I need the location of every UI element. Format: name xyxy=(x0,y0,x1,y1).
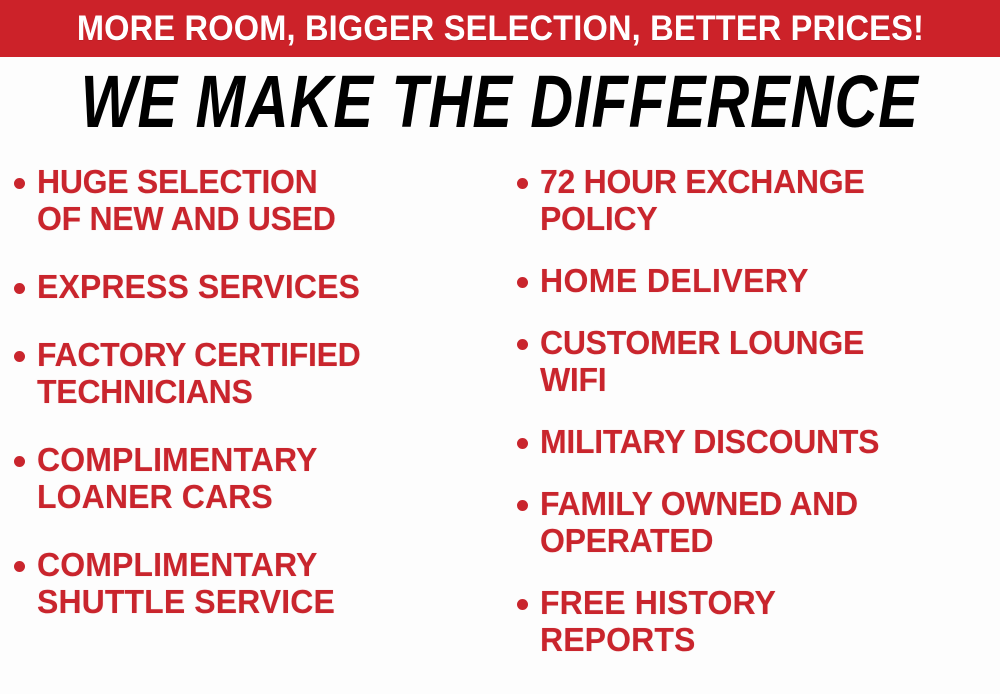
bullet-dot-icon xyxy=(517,500,528,511)
banner-headline-text: MORE ROOM, BIGGER SELECTION, BETTER PRIC… xyxy=(76,11,923,46)
benefit-complimentary-shuttle-service: COMPLIMENTARY SHUTTLE SERVICE xyxy=(37,547,335,621)
top-banner: MORE ROOM, BIGGER SELECTION, BETTER PRIC… xyxy=(0,0,1000,57)
benefit-72-hour-exchange-policy: 72 HOUR EXCHANGE POLICY xyxy=(540,164,864,238)
list-item: HUGE SELECTION OF NEW AND USED xyxy=(14,164,505,238)
benefits-column-left: HUGE SELECTION OF NEW AND USED EXPRESS S… xyxy=(0,150,505,694)
bullet-dot-icon xyxy=(517,599,528,610)
bullet-dot-icon xyxy=(517,178,528,189)
bullet-dot-icon xyxy=(14,351,25,362)
benefit-customer-lounge-wifi: CUSTOMER LOUNGE WIFI xyxy=(540,325,864,399)
list-item: FREE HISTORY REPORTS xyxy=(517,585,1000,659)
benefit-complimentary-loaner-cars: COMPLIMENTARY LOANER CARS xyxy=(37,442,317,516)
bullet-dot-icon xyxy=(14,178,25,189)
benefit-factory-certified-technicians: FACTORY CERTIFIED TECHNICIANS xyxy=(37,337,360,411)
bullet-dot-icon xyxy=(14,456,25,467)
benefit-express-services: EXPRESS SERVICES xyxy=(37,269,360,306)
list-item: COMPLIMENTARY LOANER CARS xyxy=(14,442,505,516)
benefit-free-history-reports: FREE HISTORY REPORTS xyxy=(540,585,776,659)
list-item: COMPLIMENTARY SHUTTLE SERVICE xyxy=(14,547,505,621)
benefit-military-discounts: MILITARY DISCOUNTS xyxy=(540,424,879,461)
benefits-column-right: 72 HOUR EXCHANGE POLICY HOME DELIVERY CU… xyxy=(505,150,1000,694)
bullet-dot-icon xyxy=(517,438,528,449)
main-headline: WE MAKE THE DIFFERENCE xyxy=(81,64,919,138)
list-item: 72 HOUR EXCHANGE POLICY xyxy=(517,164,1000,238)
list-item: FACTORY CERTIFIED TECHNICIANS xyxy=(14,337,505,411)
list-item: FAMILY OWNED AND OPERATED xyxy=(517,486,1000,560)
bullet-dot-icon xyxy=(14,561,25,572)
benefit-home-delivery: HOME DELIVERY xyxy=(540,263,809,300)
bullet-dot-icon xyxy=(517,277,528,288)
benefit-family-owned-and-operated: FAMILY OWNED AND OPERATED xyxy=(540,486,858,560)
list-item: MILITARY DISCOUNTS xyxy=(517,424,1000,461)
list-item: CUSTOMER LOUNGE WIFI xyxy=(517,325,1000,399)
bullet-dot-icon xyxy=(517,339,528,350)
headline-container: WE MAKE THE DIFFERENCE xyxy=(0,62,1000,140)
list-item: EXPRESS SERVICES xyxy=(14,269,505,306)
bullet-dot-icon xyxy=(14,283,25,294)
benefit-huge-selection: HUGE SELECTION OF NEW AND USED xyxy=(37,164,336,238)
benefits-columns: HUGE SELECTION OF NEW AND USED EXPRESS S… xyxy=(0,150,1000,694)
list-item: HOME DELIVERY xyxy=(517,263,1000,300)
promo-poster: MORE ROOM, BIGGER SELECTION, BETTER PRIC… xyxy=(0,0,1000,694)
